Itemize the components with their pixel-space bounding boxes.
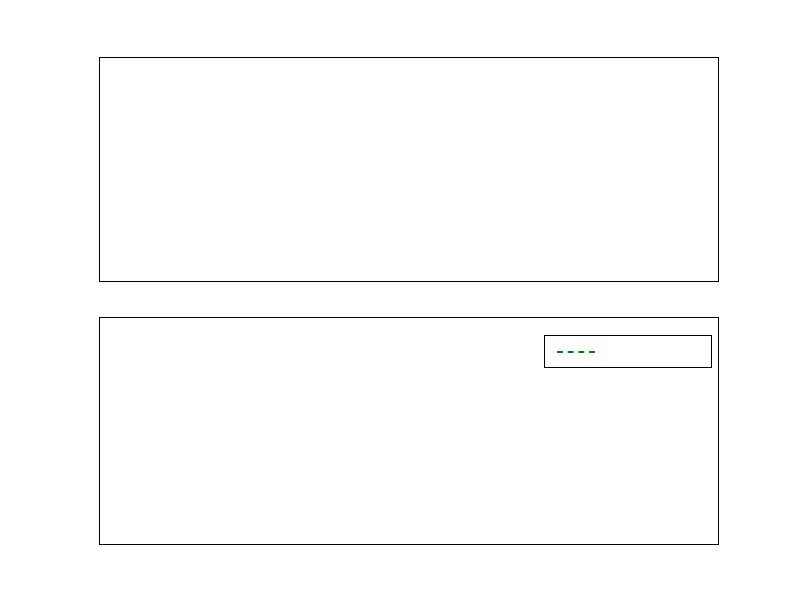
legend[interactable] [544,335,712,368]
matplotlib-figure [0,0,800,600]
differential-histogram-axes [99,57,719,282]
cumulative-histogram-axes [99,317,719,545]
histogram-bars-layer [100,58,718,281]
mag-limit-dash-icon [557,351,595,353]
